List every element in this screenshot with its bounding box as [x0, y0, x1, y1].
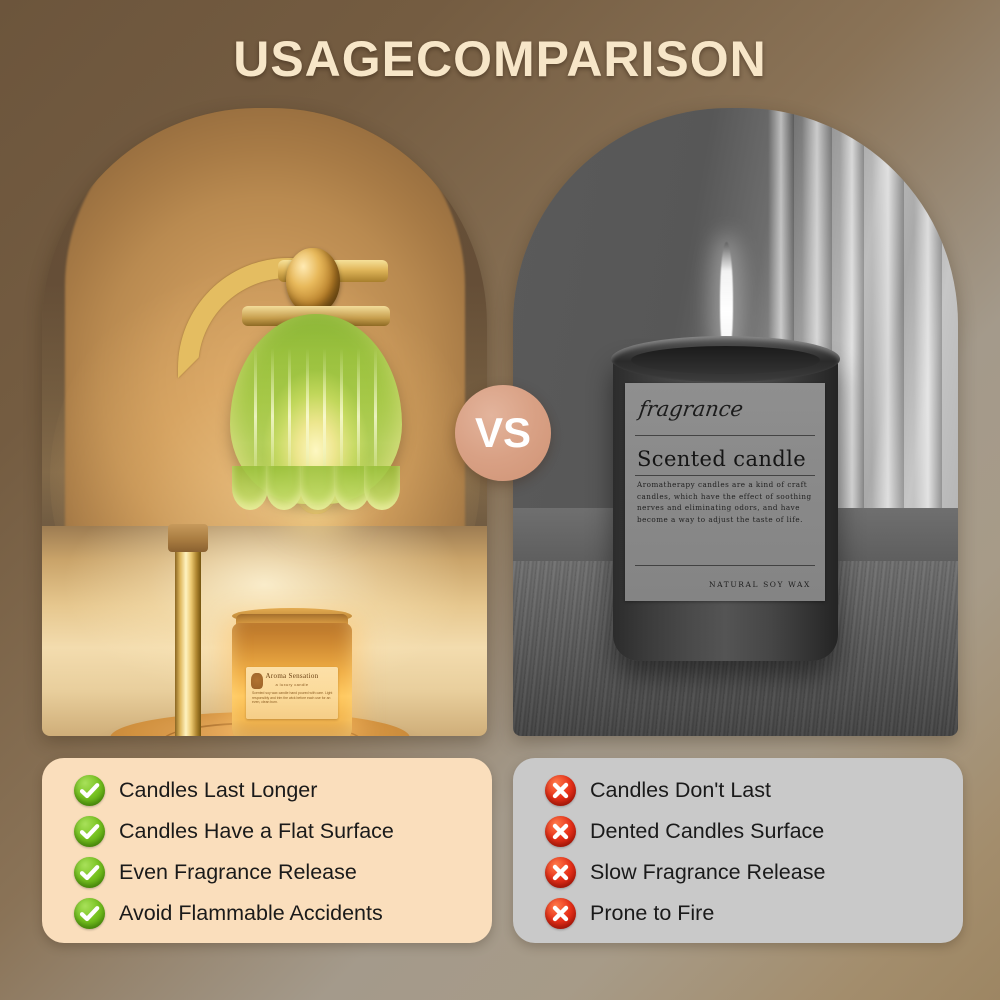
pros-item-label: Avoid Flammable Accidents — [119, 901, 383, 926]
cons-item-label: Candles Don't Last — [590, 778, 771, 803]
label-footer-text: NATURAL SOY WAX — [709, 580, 811, 589]
list-item: Slow Fragrance Release — [545, 856, 825, 888]
right-product-image: fragrance Scented candle Aromatherapy ca… — [513, 108, 958, 736]
list-item: Even Fragrance Release — [74, 856, 357, 888]
check-circle-icon — [74, 857, 105, 888]
amber-jar-subtitle: a luxury candle — [246, 682, 338, 687]
list-item: Candles Have a Flat Surface — [74, 815, 394, 847]
check-circle-icon — [74, 816, 105, 847]
cons-item-label: Prone to Fire — [590, 901, 714, 926]
x-circle-icon — [545, 775, 576, 806]
left-scene-background: Aroma Sensation a luxury candle Scented … — [42, 108, 487, 736]
list-item: Prone to Fire — [545, 897, 714, 929]
check-circle-icon — [74, 898, 105, 929]
amber-jar-body: Scented soy wax candle hand poured with … — [252, 691, 334, 705]
label-body-text: Aromatherapy candles are a kind of craft… — [637, 479, 813, 525]
check-circle-icon — [74, 775, 105, 806]
cons-panel: Candles Don't Last Dented Candles Surfac… — [513, 758, 963, 943]
lamp-wood-collar — [168, 524, 208, 552]
amber-jar-label: Aroma Sensation a luxury candle Scented … — [246, 667, 338, 719]
x-circle-icon — [545, 898, 576, 929]
x-circle-icon — [545, 816, 576, 847]
label-script-text: fragrance — [637, 397, 744, 421]
pros-panel: Candles Last Longer Candles Have a Flat … — [42, 758, 492, 943]
lamp-gold-knob — [286, 248, 340, 314]
x-circle-icon — [545, 857, 576, 888]
pros-item-label: Candles Last Longer — [119, 778, 317, 803]
amber-jar-brand: Aroma Sensation — [246, 672, 338, 680]
list-item: Avoid Flammable Accidents — [74, 897, 383, 929]
black-jar-wax-surface — [631, 346, 820, 374]
black-jar-label: fragrance Scented candle Aromatherapy ca… — [625, 383, 825, 601]
list-item: Candles Don't Last — [545, 774, 771, 806]
vs-badge: VS — [455, 385, 551, 481]
right-scene-background: fragrance Scented candle Aromatherapy ca… — [513, 108, 958, 736]
list-item: Dented Candles Surface — [545, 815, 824, 847]
cons-item-label: Dented Candles Surface — [590, 819, 824, 844]
pros-item-label: Candles Have a Flat Surface — [119, 819, 394, 844]
page-title: USAGECOMPARISON — [0, 30, 1000, 88]
label-heading: Scented candle — [637, 447, 806, 471]
cons-item-label: Slow Fragrance Release — [590, 860, 825, 885]
left-product-image: Aroma Sensation a luxury candle Scented … — [42, 108, 487, 736]
pros-item-label: Even Fragrance Release — [119, 860, 357, 885]
comparison-poster: USAGECOMPARISON — [0, 0, 1000, 1000]
list-item: Candles Last Longer — [74, 774, 317, 806]
lamp-post — [175, 548, 201, 736]
